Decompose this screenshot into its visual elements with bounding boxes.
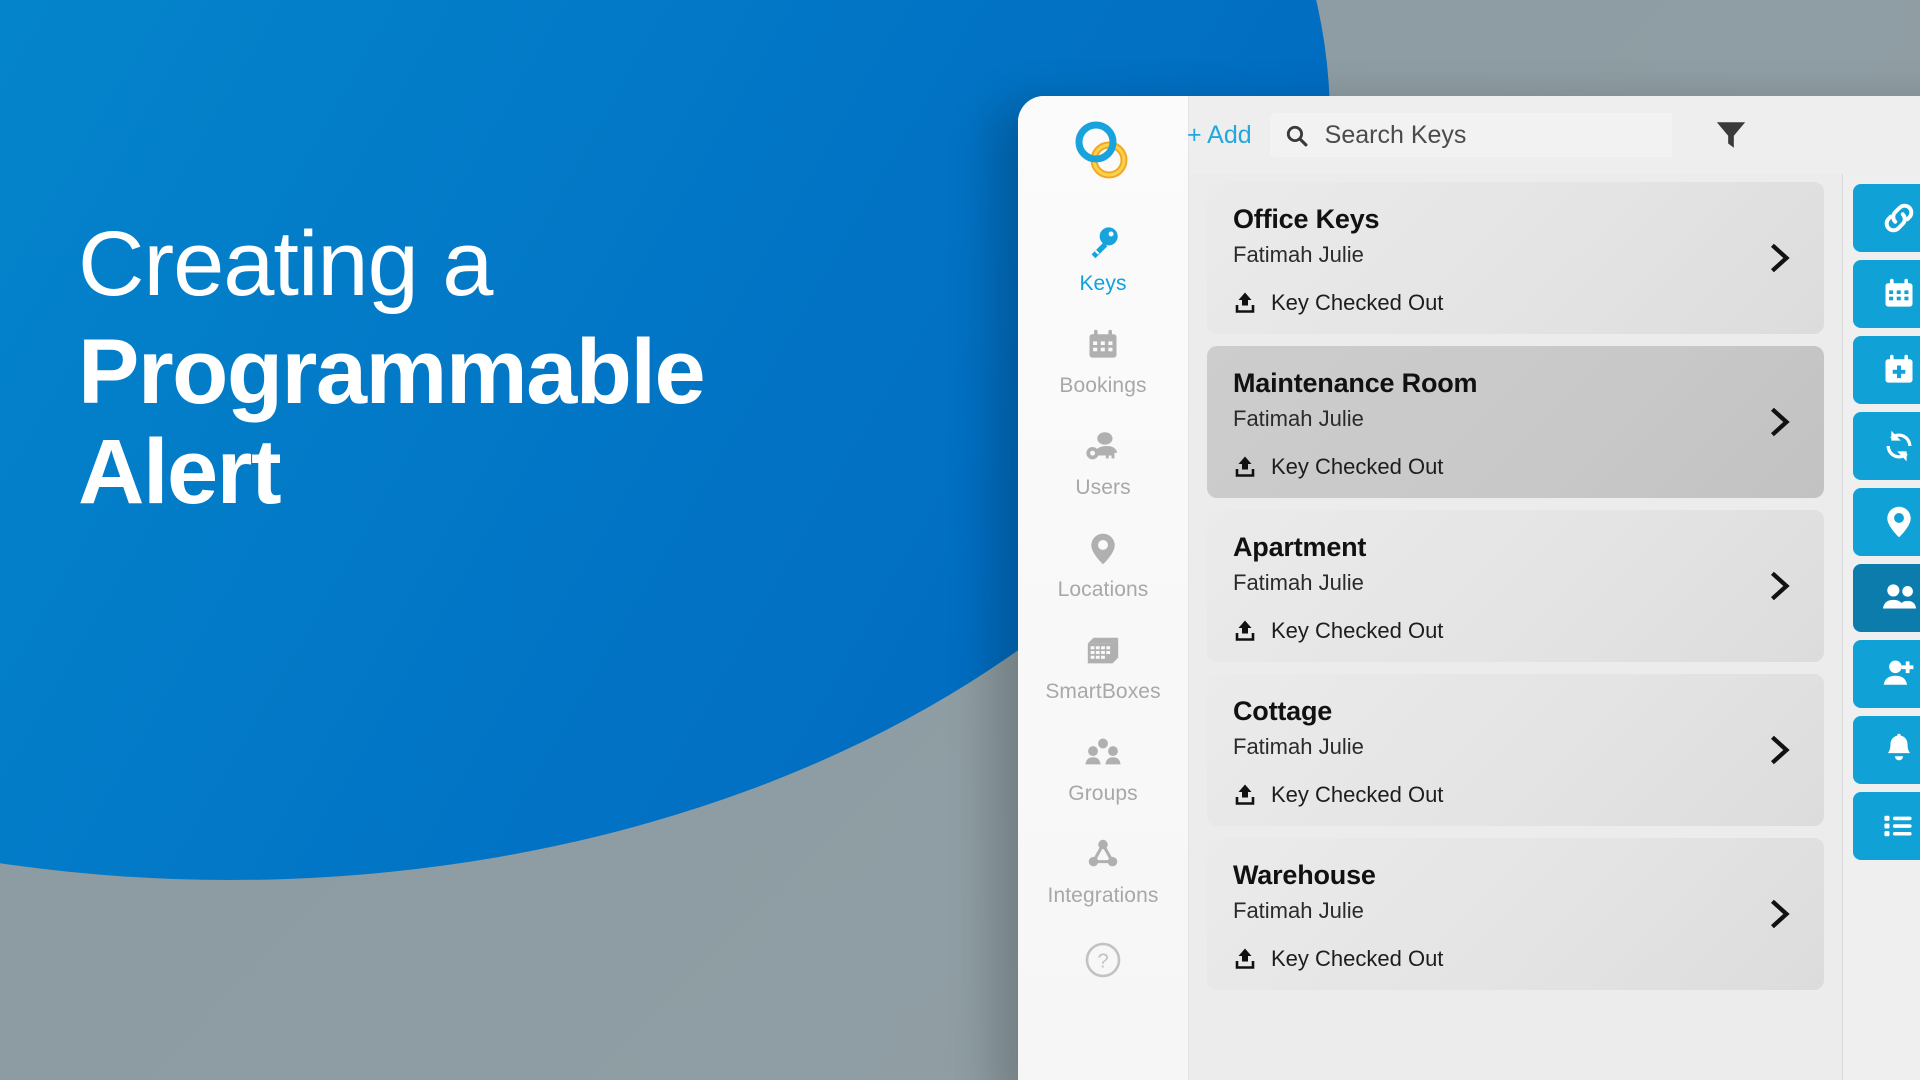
chevron-right-icon[interactable]: [1764, 899, 1794, 929]
key-card-title: Cottage: [1233, 696, 1798, 727]
key-card-status: Key Checked Out: [1233, 782, 1798, 808]
hero-line-3: Alert: [78, 426, 704, 518]
key-checked-out-icon: [1233, 455, 1257, 479]
sidebar-label-integrations: Integrations: [1048, 884, 1159, 908]
calendar-icon: [1881, 276, 1920, 312]
key-card-holder: Fatimah Julie: [1233, 734, 1798, 760]
key-card-status: Key Checked Out: [1233, 454, 1798, 480]
interlocking-rings-logo[interactable]: [1071, 118, 1135, 182]
sidebar-label-groups: Groups: [1068, 782, 1137, 806]
link-icon: [1881, 200, 1920, 236]
key-card-status-text: Key Checked Out: [1271, 290, 1443, 316]
search-icon: [1284, 123, 1309, 148]
key-card-status: Key Checked Out: [1233, 946, 1798, 972]
key-actions-panel: Setup Key: [1843, 96, 1920, 1080]
hero-line-2: Programmable: [78, 326, 704, 418]
sidebar-label-locations: Locations: [1058, 578, 1149, 602]
bell-icon: [1881, 732, 1920, 768]
action-see-history[interactable]: See History: [1853, 792, 1920, 860]
sidebar-item-users[interactable]: Users: [1018, 414, 1188, 510]
action-add-permitted-user[interactable]: Add Permitted User: [1853, 640, 1920, 708]
key-card-holder: Fatimah Julie: [1233, 242, 1798, 268]
key-card-title: Warehouse: [1233, 860, 1798, 891]
add-key-button[interactable]: + Add: [1187, 121, 1270, 150]
user-plus-icon: [1881, 656, 1920, 692]
key-card-title: Office Keys: [1233, 204, 1798, 235]
key-card-holder: Fatimah Julie: [1233, 898, 1798, 924]
sidebar-item-locations[interactable]: Locations: [1018, 516, 1188, 612]
chevron-right-icon[interactable]: [1764, 243, 1794, 273]
key-checked-out-icon: [1233, 947, 1257, 971]
key-card-title: Apartment: [1233, 532, 1798, 563]
app-window: Keys: [1018, 96, 1920, 1080]
sidebar-item-keys[interactable]: Keys: [1018, 210, 1188, 306]
sidebar-item-smartboxes[interactable]: SmartBoxes: [1018, 618, 1188, 714]
sidebar-item-groups[interactable]: Groups: [1018, 720, 1188, 816]
help-circle-icon[interactable]: ?: [1083, 940, 1123, 980]
action-bookings[interactable]: Bookings: [1853, 260, 1920, 328]
groups-icon: [1084, 732, 1122, 774]
actions-toolbar: [1672, 96, 1920, 174]
key-card-office-keys[interactable]: Office Keys Fatimah Julie Key Checked Ou…: [1207, 182, 1824, 334]
search-placeholder-text: Search Keys: [1325, 121, 1467, 150]
action-permitted-users[interactable]: Permitted Users: [1853, 564, 1920, 632]
sidebar-label-smartboxes: SmartBoxes: [1045, 680, 1160, 704]
chevron-right-icon[interactable]: [1764, 571, 1794, 601]
user-key-icon: [1084, 426, 1122, 468]
list-icon: [1881, 809, 1920, 843]
calendar-icon: [1085, 324, 1121, 366]
filter-icon[interactable]: [1714, 118, 1748, 152]
key-card-title: Maintenance Room: [1233, 368, 1798, 399]
chevron-right-icon[interactable]: [1764, 735, 1794, 765]
key-card-warehouse[interactable]: Warehouse Fatimah Julie Key Checked Out: [1207, 838, 1824, 990]
key-card-status: Key Checked Out: [1233, 618, 1798, 644]
sidebar-item-integrations[interactable]: Integrations: [1018, 822, 1188, 918]
key-icon: [1084, 222, 1122, 264]
key-card-status-text: Key Checked Out: [1271, 618, 1443, 644]
sidebar-nav: Keys: [1018, 96, 1189, 1080]
action-programmable-alerts[interactable]: Programmable Alerts: [1853, 716, 1920, 784]
sidebar-item-bookings[interactable]: Bookings: [1018, 312, 1188, 408]
calendar-plus-icon: [1881, 352, 1920, 388]
key-card-holder: Fatimah Julie: [1233, 570, 1798, 596]
action-home-location[interactable]: Home Location: [1853, 488, 1920, 556]
svg-text:?: ?: [1097, 951, 1108, 973]
key-checked-out-icon: [1233, 783, 1257, 807]
key-card-cottage[interactable]: Cottage Fatimah Julie Key Checked Out: [1207, 674, 1824, 826]
key-card-status-text: Key Checked Out: [1271, 782, 1443, 808]
key-card-maintenance-room[interactable]: Maintenance Room Fatimah Julie Key Check…: [1207, 346, 1824, 498]
action-buttons-list: Setup Key: [1843, 174, 1920, 860]
sidebar-label-bookings: Bookings: [1059, 374, 1146, 398]
key-card-status-text: Key Checked Out: [1271, 946, 1443, 972]
action-add-ongoing-booking[interactable]: Add Ongoing Booking: [1853, 412, 1920, 480]
key-cards-list[interactable]: Office Keys Fatimah Julie Key Checked Ou…: [1189, 174, 1842, 1080]
map-pin-icon: [1881, 504, 1920, 540]
integrations-icon: [1084, 834, 1122, 876]
refresh-icon: [1881, 428, 1920, 464]
key-card-holder: Fatimah Julie: [1233, 406, 1798, 432]
chevron-right-icon[interactable]: [1764, 407, 1794, 437]
action-add-one-time-booking[interactable]: Add One-Time Booking: [1853, 336, 1920, 404]
key-card-status: Key Checked Out: [1233, 290, 1798, 316]
key-card-apartment[interactable]: Apartment Fatimah Julie Key Checked Out: [1207, 510, 1824, 662]
sidebar-label-users: Users: [1075, 476, 1130, 500]
sidebar-label-keys: Keys: [1079, 272, 1126, 296]
key-checked-out-icon: [1233, 291, 1257, 315]
key-list-panel: + Add Search Keys Office Keys Fatimah Ju…: [1189, 96, 1843, 1080]
map-pin-icon: [1085, 528, 1121, 570]
key-card-status-text: Key Checked Out: [1271, 454, 1443, 480]
action-setup-key[interactable]: Setup Key: [1853, 184, 1920, 252]
hero-title: Creating a Programmable Alert: [78, 218, 704, 518]
smartbox-icon: [1084, 630, 1122, 672]
hero-line-1: Creating a: [78, 218, 704, 310]
key-checked-out-icon: [1233, 619, 1257, 643]
users-icon: [1881, 579, 1920, 617]
